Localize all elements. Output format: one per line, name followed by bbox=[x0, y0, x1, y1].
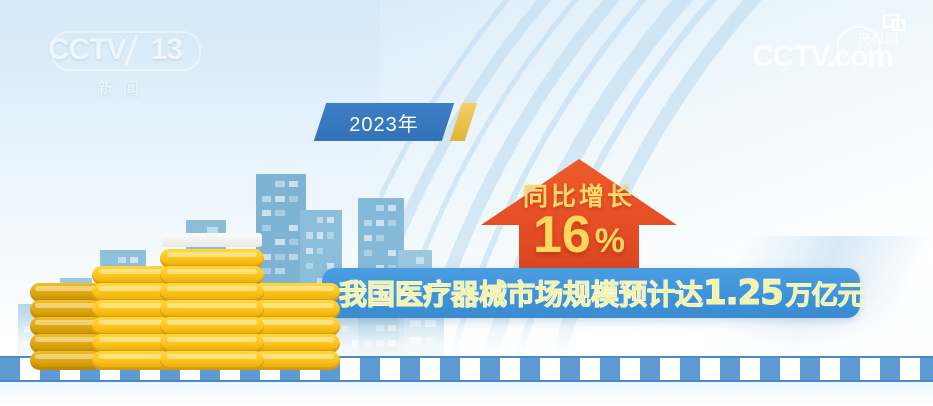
channel-number: 13 bbox=[151, 33, 182, 67]
building-window bbox=[425, 320, 436, 327]
building-window bbox=[289, 181, 298, 187]
cctvcom-wordmark: CCTV bbox=[752, 40, 827, 73]
logo-pill-outline bbox=[51, 31, 201, 71]
broadcast-frame: CCTV 13 新闻 CCTV.com 央视网 2023年 bbox=[0, 0, 933, 406]
cctv13-logo: CCTV 13 新闻 bbox=[48, 33, 198, 95]
headline-figure: 1.25 bbox=[703, 273, 783, 313]
swoosh-icon bbox=[834, 23, 882, 61]
coin bbox=[160, 351, 264, 370]
cctvcom-watermark: CCTV.com 央视网 bbox=[752, 40, 893, 74]
channel-subtitle: 新闻 bbox=[48, 75, 198, 99]
cctvcom-chinese: 央视网 bbox=[857, 28, 899, 47]
growth-value: 16% bbox=[481, 209, 677, 261]
picture-in-picture-icon bbox=[883, 14, 905, 32]
stack-cap-box bbox=[162, 233, 262, 247]
ground-shadow bbox=[0, 382, 933, 406]
building-window bbox=[425, 337, 436, 344]
growth-unit: % bbox=[595, 222, 625, 260]
growth-arrow: 同比增长 16% bbox=[481, 157, 677, 285]
coin bbox=[252, 351, 340, 370]
cctv-wordmark: CCTV bbox=[48, 33, 126, 67]
headline-text: 我国医疗器械市场规模预计达1.25万亿元 bbox=[322, 273, 864, 313]
growth-number: 16 bbox=[533, 206, 591, 264]
headline-suffix: 万亿元 bbox=[786, 281, 864, 311]
headline-banner: 我国医疗器械市场规模预计达1.25万亿元 bbox=[322, 268, 860, 318]
cctvcom-suffix: .com bbox=[827, 40, 893, 73]
headline-prefix: 我国医疗器械市场规模预计达 bbox=[339, 278, 703, 311]
building-window bbox=[275, 181, 284, 187]
logo-slash-icon bbox=[124, 35, 154, 65]
logo-text-row: CCTV 13 bbox=[48, 33, 198, 67]
year-tag-label: 2023年 bbox=[320, 103, 448, 141]
